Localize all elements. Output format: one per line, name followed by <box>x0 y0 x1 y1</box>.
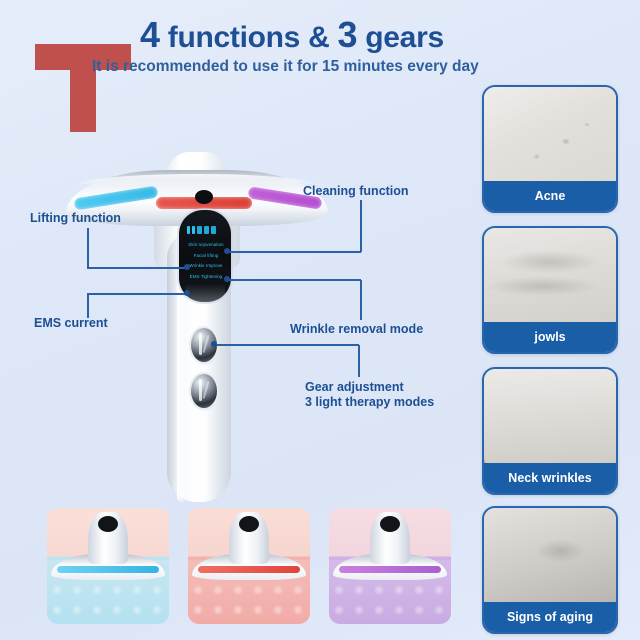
indicator-bar <box>204 226 209 234</box>
indicator-bar <box>197 226 202 234</box>
callout-cleaning-function: Cleaning function <box>303 184 409 199</box>
screen-mode-ems-tightening: EMS Tightening <box>183 272 229 283</box>
page-title: 4 functions & 3 gears <box>140 14 500 56</box>
concern-card-signs-of-aging[interactable]: Signs of aging <box>482 506 618 634</box>
leader-dot-ems <box>184 290 190 296</box>
thumb-sensor-dot <box>239 516 259 532</box>
device-screen: Skin rejuvenation Facial lifting Wrinkle… <box>179 210 231 302</box>
button-highlight <box>203 381 210 399</box>
leader-ems-h <box>87 293 187 295</box>
leader-dot-lifting <box>184 264 190 270</box>
thumbnail-blue-light[interactable] <box>47 508 169 624</box>
thumb-led-strip <box>339 566 441 573</box>
concern-card-neck-wrinkles[interactable]: Neck wrinkles <box>482 367 618 495</box>
screen-indicator-bars <box>187 226 216 234</box>
card-caption: Acne <box>484 181 616 211</box>
leader-cleaning-v <box>360 200 362 252</box>
acne-skin-photo <box>484 87 616 181</box>
callout-ems-current: EMS current <box>34 316 108 331</box>
infographic-canvas: 4 functions & 3 gears It is recommended … <box>0 0 640 640</box>
leader-dot-gear <box>211 341 217 347</box>
neck-wrinkles-photo <box>484 369 616 463</box>
leader-ems-v <box>87 294 89 318</box>
title-text-gears: gears <box>357 21 444 54</box>
aging-mouth-photo <box>484 508 616 602</box>
leader-wrinkle-v <box>360 280 362 320</box>
thumb-sensor-dot <box>380 516 400 532</box>
callout-gear-adjustment: Gear adjustment 3 light therapy modes <box>305 380 434 410</box>
leader-wrinkle-h <box>226 279 361 281</box>
device-sensor-dot <box>195 190 213 204</box>
leader-cleaning-h <box>226 251 361 253</box>
thumb-led-strip <box>57 566 159 573</box>
title-text-functions: functions & <box>160 21 338 54</box>
concern-card-acne[interactable]: Acne <box>482 85 618 213</box>
indicator-bar <box>192 226 195 234</box>
screen-mode-facial-lifting: Facial lifting <box>183 251 229 262</box>
concern-card-jowls[interactable]: jowls <box>482 226 618 354</box>
thumbnail-purple-light[interactable] <box>329 508 451 624</box>
card-caption: jowls <box>484 322 616 352</box>
thumb-led-strip <box>198 566 300 573</box>
callout-lifting-function: Lifting function <box>30 211 121 226</box>
thumbnail-red-light[interactable] <box>188 508 310 624</box>
button-highlight <box>203 335 210 353</box>
leader-dot-wrinkle <box>224 276 230 282</box>
leader-gear-v <box>358 345 360 377</box>
indicator-bar <box>187 226 190 234</box>
leader-lifting-v <box>87 228 89 268</box>
screen-glow <box>185 284 225 302</box>
title-number-functions: 4 <box>140 14 160 55</box>
leader-gear-h <box>214 344 359 346</box>
jowls-photo <box>484 228 616 322</box>
power-button[interactable] <box>191 374 217 408</box>
screen-mode-list: Skin rejuvenation Facial lifting Wrinkle… <box>183 240 229 282</box>
card-caption: Neck wrinkles <box>484 463 616 493</box>
leader-dot-cleaning <box>224 248 230 254</box>
callout-gear-line-2: 3 light therapy modes <box>305 395 434 410</box>
card-caption: Signs of aging <box>484 602 616 632</box>
thumb-sensor-dot <box>98 516 118 532</box>
indicator-bar <box>211 226 216 234</box>
title-number-gears: 3 <box>338 14 358 55</box>
screen-mode-skin-rejuvenation: Skin rejuvenation <box>183 240 229 251</box>
led-segment-blue <box>74 186 159 211</box>
page-subtitle: It is recommended to use it for 15 minut… <box>92 58 552 76</box>
leader-lifting-h <box>87 267 187 269</box>
callout-wrinkle-removal-mode: Wrinkle removal mode <box>290 322 423 337</box>
callout-gear-line-1: Gear adjustment <box>305 380 434 395</box>
